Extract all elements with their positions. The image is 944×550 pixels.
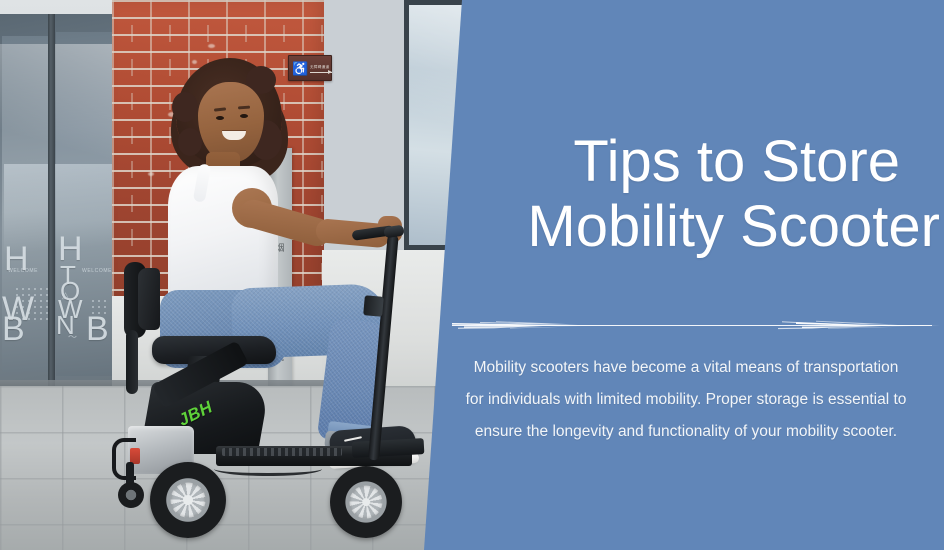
scooter-wheel-front xyxy=(330,466,402,538)
headline-line-1: Tips to Store xyxy=(424,130,940,195)
handlebar-grip xyxy=(383,225,404,239)
headline-line-2: Mobility Scooter xyxy=(424,195,940,260)
front-footplate xyxy=(352,438,425,458)
body-line-1: Mobility scooters have become a vital me… xyxy=(438,352,934,384)
arrow-flourish-right-icon xyxy=(772,318,942,334)
body-copy: Mobility scooters have become a vital me… xyxy=(438,352,934,447)
seat-armrest xyxy=(126,330,138,394)
arrow-flourish-left-icon xyxy=(450,318,630,334)
body-line-2: for individuals with limited mobility. P… xyxy=(438,384,934,416)
tiller-column xyxy=(368,234,399,460)
wheel-hub xyxy=(171,483,206,518)
hero-banner: H H T O W N W B B WELCOME WELCOME 〜 △ ♿ … xyxy=(0,0,944,550)
caster-wheel xyxy=(118,482,144,508)
body-line-3: ensure the longevity and functionality o… xyxy=(438,416,934,448)
text-panel-content: Tips to Store Mobility Scooter xyxy=(424,0,944,550)
seat-backrest-pad xyxy=(138,268,160,330)
text-panel: Tips to Store Mobility Scooter xyxy=(424,0,944,550)
tiller-clamp xyxy=(363,295,384,317)
decorative-divider xyxy=(452,318,932,334)
footdeck-tread xyxy=(222,448,342,456)
mobility-scooter: JBH xyxy=(0,0,460,550)
wheel-hub xyxy=(349,485,382,518)
scooter-wheel-rear xyxy=(150,462,226,538)
scooter-cable xyxy=(214,462,322,476)
headline: Tips to Store Mobility Scooter xyxy=(424,130,944,260)
